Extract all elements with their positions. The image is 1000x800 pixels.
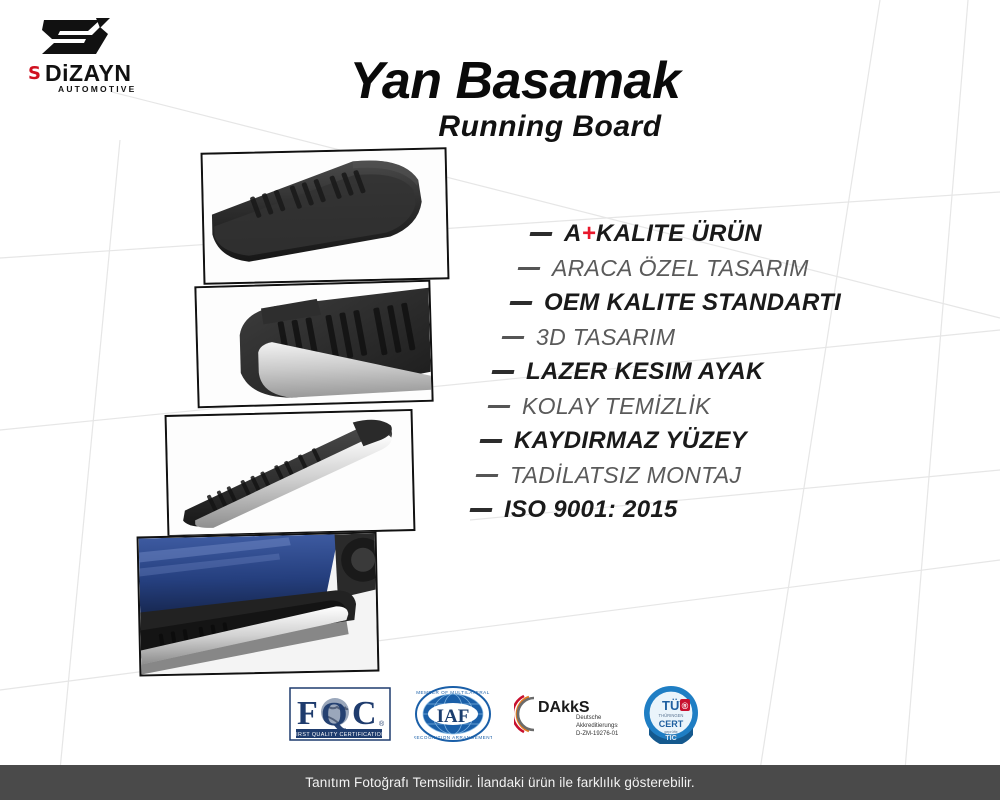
footer-disclaimer-bar: Tanıtım Fotoğrafı Temsilidir. İlandaki ü… (0, 765, 1000, 800)
footer-disclaimer-text: Tanıtım Fotoğrafı Temsilidir. İlandaki ü… (305, 775, 695, 790)
product-photo-4 (137, 532, 380, 677)
svg-text:C: C (352, 695, 377, 732)
svg-text:F: F (297, 695, 318, 732)
svg-text:®: ® (682, 701, 689, 711)
feature-item: 3D TASARIM (502, 326, 900, 349)
dash-icon (470, 508, 493, 512)
feature-label: ISO 9001: 2015 (504, 498, 678, 522)
s-dizayn-logo-mark-icon (38, 14, 124, 60)
dash-icon (492, 370, 515, 374)
svg-text:Akkreditierungsstelle: Akkreditierungsstelle (576, 723, 618, 729)
feature-label: KOLAY TEMİZLİK (522, 395, 711, 418)
svg-text:THÜRINGEN: THÜRINGEN (659, 713, 684, 718)
feature-item: A+KALITE ÜRÜN (530, 222, 900, 246)
logo-tagline: AUTOMOTIVE (58, 84, 137, 94)
feature-label: TADİLATSIZ MONTAJ (510, 464, 741, 487)
feature-label: LAZER KESIM AYAK (526, 360, 764, 384)
feature-item: KOLAY TEMİZLİK (488, 395, 900, 418)
feature-label: ARACA ÖZEL TASARIM (552, 257, 809, 280)
svg-text:DAkkS: DAkkS (538, 699, 590, 716)
brand-logo: S DiZAYN AUTOMOTIVE (22, 14, 172, 96)
feature-item: KAYDIRMAZ YÜZEY (480, 429, 900, 453)
feature-item: OEM KALITE STANDARTI (510, 291, 900, 315)
svg-text:FIRST QUALITY CERTIFICATION: FIRST QUALITY CERTIFICATION (292, 732, 385, 738)
svg-text:RECOGNITION ARRANGEMENT: RECOGNITION ARRANGEMENT (414, 735, 492, 740)
page-title: Yan Basamak (300, 55, 730, 107)
logo-brand-name: DiZAYN (45, 62, 132, 85)
svg-text:TIC: TIC (665, 735, 676, 742)
svg-text:IAF: IAF (437, 706, 470, 727)
svg-text:®: ® (379, 720, 385, 728)
svg-text:Deutsche: Deutsche (576, 715, 602, 721)
feature-label: 3D TASARIM (536, 326, 675, 349)
iaf-badge-icon: IAF MEMBER OF MULTILATERAL RECOGNITION A… (414, 684, 492, 744)
product-banner: S DiZAYN AUTOMOTIVE Yan Basamak Running … (0, 0, 1000, 800)
dash-icon (488, 405, 511, 408)
svg-text:Q: Q (321, 696, 347, 733)
product-photo-2 (194, 280, 433, 409)
feature-label: A+KALITE ÜRÜN (564, 222, 762, 246)
product-photo-1 (201, 147, 450, 285)
feature-item: TADİLATSIZ MONTAJ (476, 464, 900, 487)
certification-badges: F Q C ® FIRST QUALITY CERTIFICATION (288, 682, 718, 746)
dash-icon (518, 267, 541, 270)
tuv-cert-badge-icon: TÜV ® THÜRINGEN CERT geprüfte Qualität T… (640, 684, 702, 744)
feature-item: ARACA ÖZEL TASARIM (518, 257, 900, 280)
dash-icon (530, 232, 553, 236)
feature-item: ISO 9001: 2015 (470, 498, 900, 522)
dash-icon (480, 439, 503, 443)
dash-icon (502, 336, 525, 339)
dakks-badge-icon: DAkkS Deutsche Akkreditierungsstelle D-Z… (514, 684, 618, 744)
logo-wordmark: S DiZAYN (28, 62, 131, 85)
dash-icon (476, 474, 499, 477)
svg-text:MEMBER OF MULTILATERAL: MEMBER OF MULTILATERAL (416, 690, 490, 695)
feature-label: OEM KALITE STANDARTI (544, 291, 841, 315)
feature-label: KAYDIRMAZ YÜZEY (514, 429, 747, 453)
svg-text:D-ZM-19276-01-00: D-ZM-19276-01-00 (576, 731, 618, 737)
feature-item: LAZER KESIM AYAK (492, 360, 900, 384)
product-photo-3 (165, 409, 416, 537)
feature-list: A+KALITE ÜRÜN ARACA ÖZEL TASARIM OEM KAL… (470, 222, 900, 522)
svg-text:CERT: CERT (659, 719, 684, 729)
page-subtitle: Running Board (300, 112, 800, 142)
fqc-badge-icon: F Q C ® FIRST QUALITY CERTIFICATION (288, 684, 392, 744)
dash-icon (510, 301, 533, 305)
logo-s-letter: S (28, 65, 40, 83)
